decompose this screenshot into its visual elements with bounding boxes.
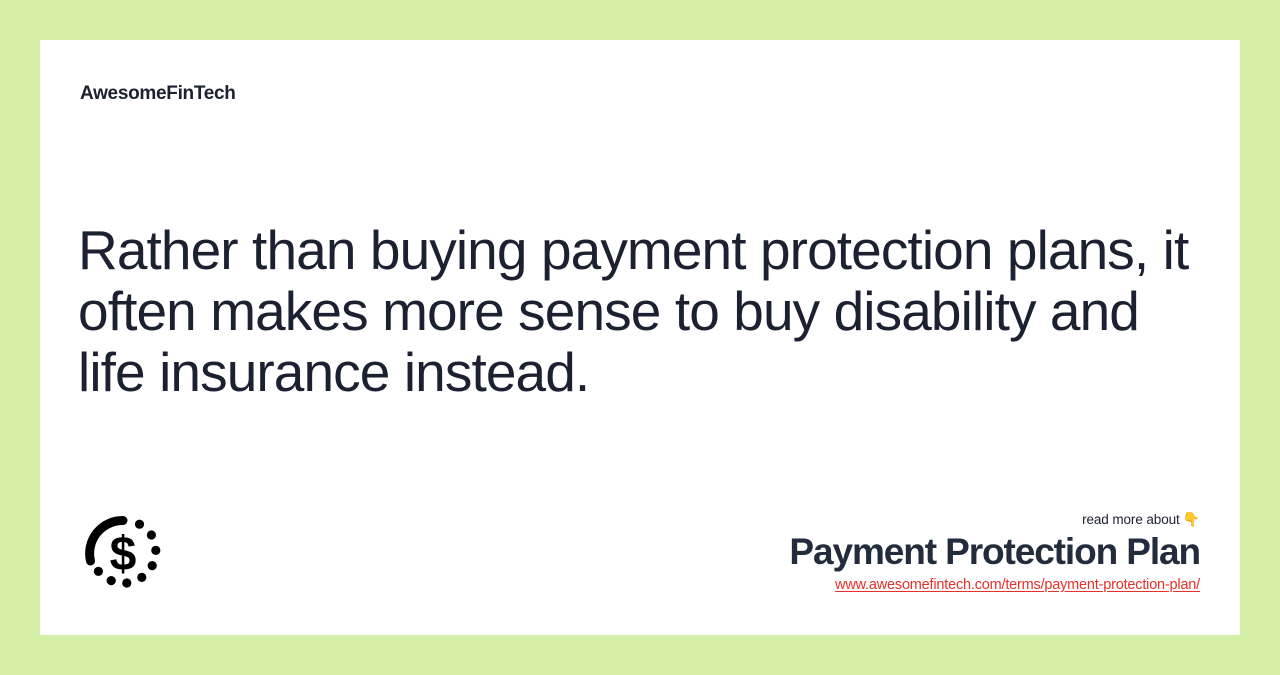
dollar-circle-logo: $ — [80, 510, 166, 596]
plan-url-link[interactable]: www.awesomefintech.com/terms/payment-pro… — [835, 575, 1200, 595]
plan-title: Payment Protection Plan — [580, 530, 1200, 574]
pointing-down-icon: 👇 — [1183, 511, 1200, 527]
page-background: AwesomeFinTech Rather than buying paymen… — [0, 0, 1280, 675]
read-more-line: read more about👇 — [580, 510, 1200, 529]
headline-quote: Rather than buying payment protection pl… — [78, 220, 1208, 403]
read-more-label: read more about — [1082, 512, 1180, 527]
brand-logo-text: AwesomeFinTech — [80, 84, 236, 103]
footer-block: read more about👇 Payment Protection Plan… — [580, 510, 1200, 595]
quote-card: AwesomeFinTech Rather than buying paymen… — [40, 40, 1240, 635]
svg-text:$: $ — [110, 528, 137, 581]
